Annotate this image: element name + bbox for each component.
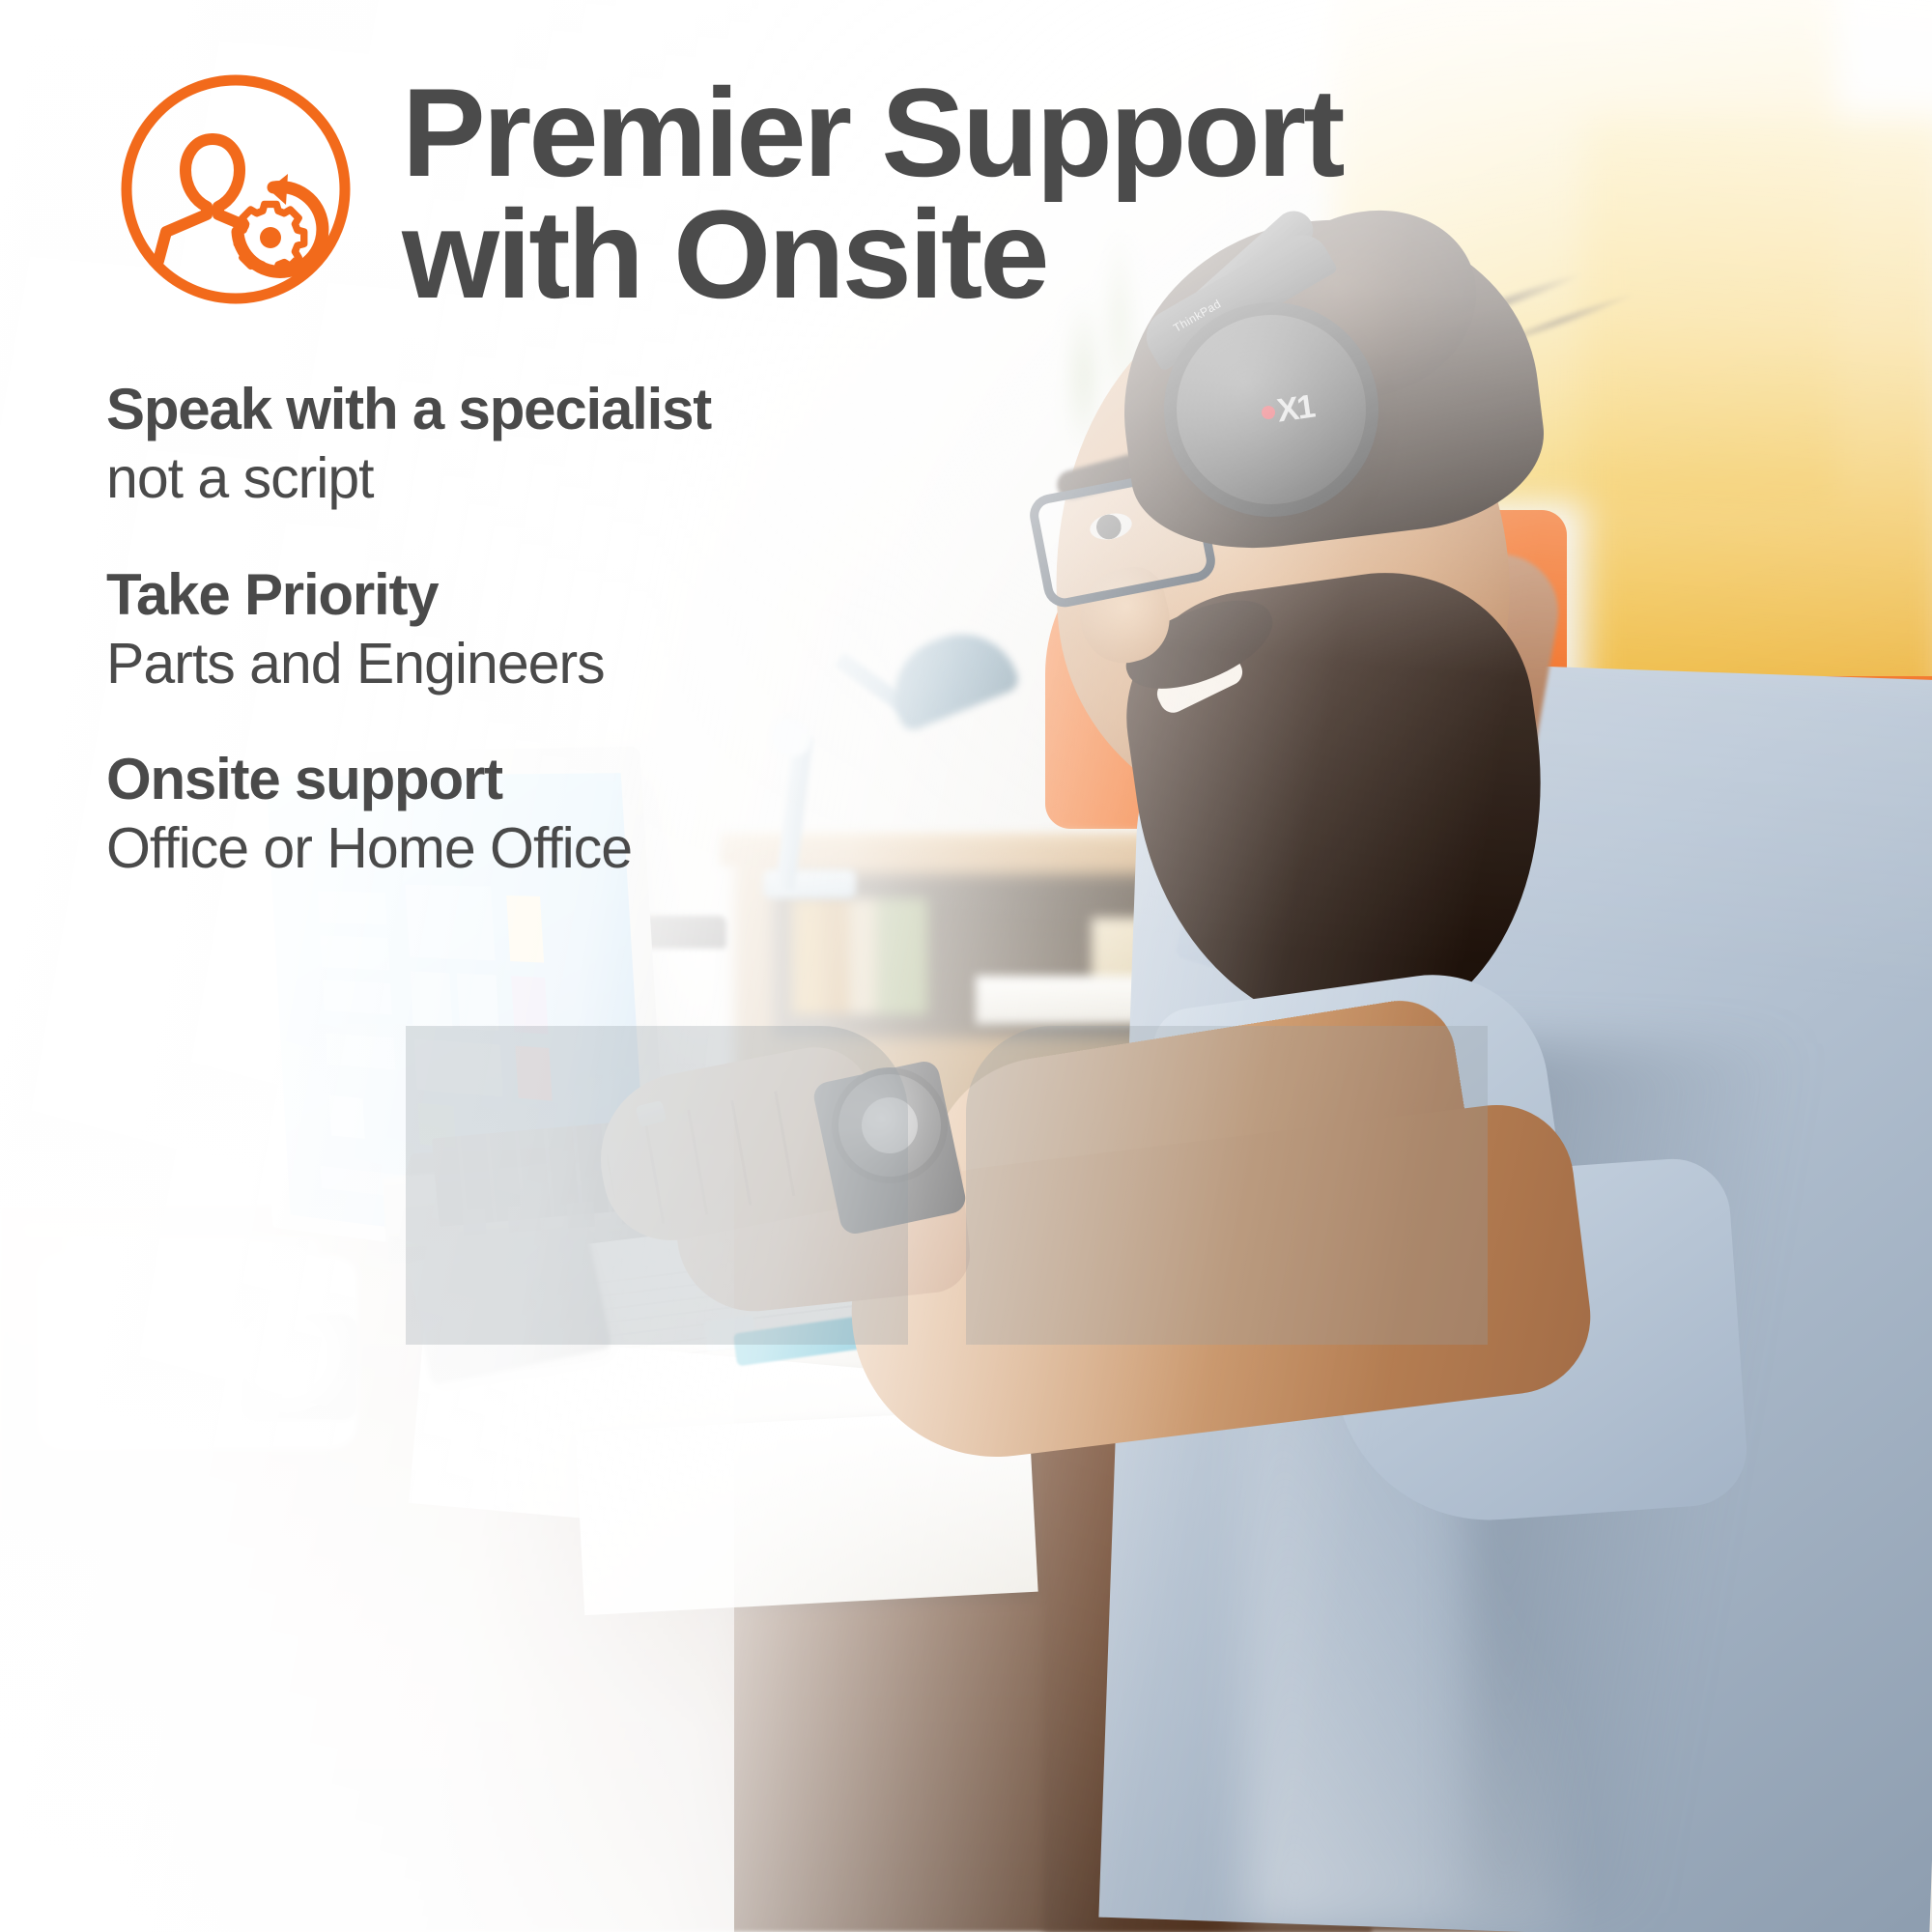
benefit-heading: Take Priority — [106, 562, 879, 627]
benefits-list: Speak with a specialist not a script Tak… — [106, 377, 879, 932]
premier-support-icon — [116, 70, 355, 309]
benefit-item-specialist: Speak with a specialist not a script — [106, 377, 879, 512]
benefit-subtext: not a script — [106, 445, 879, 511]
page-title-line2: with Onsite — [402, 184, 1047, 325]
benefit-item-priority: Take Priority Parts and Engineers — [106, 562, 879, 697]
page-title-line1: Premier Support — [402, 62, 1343, 203]
page-title: Premier Support with Onsite — [402, 71, 1368, 315]
benefit-heading: Onsite support — [106, 747, 879, 811]
benefit-heading: Speak with a specialist — [106, 377, 879, 441]
benefit-item-onsite: Onsite support Office or Home Office — [106, 747, 879, 882]
benefit-subtext: Parts and Engineers — [106, 631, 879, 696]
benefit-subtext: Office or Home Office — [106, 815, 879, 881]
